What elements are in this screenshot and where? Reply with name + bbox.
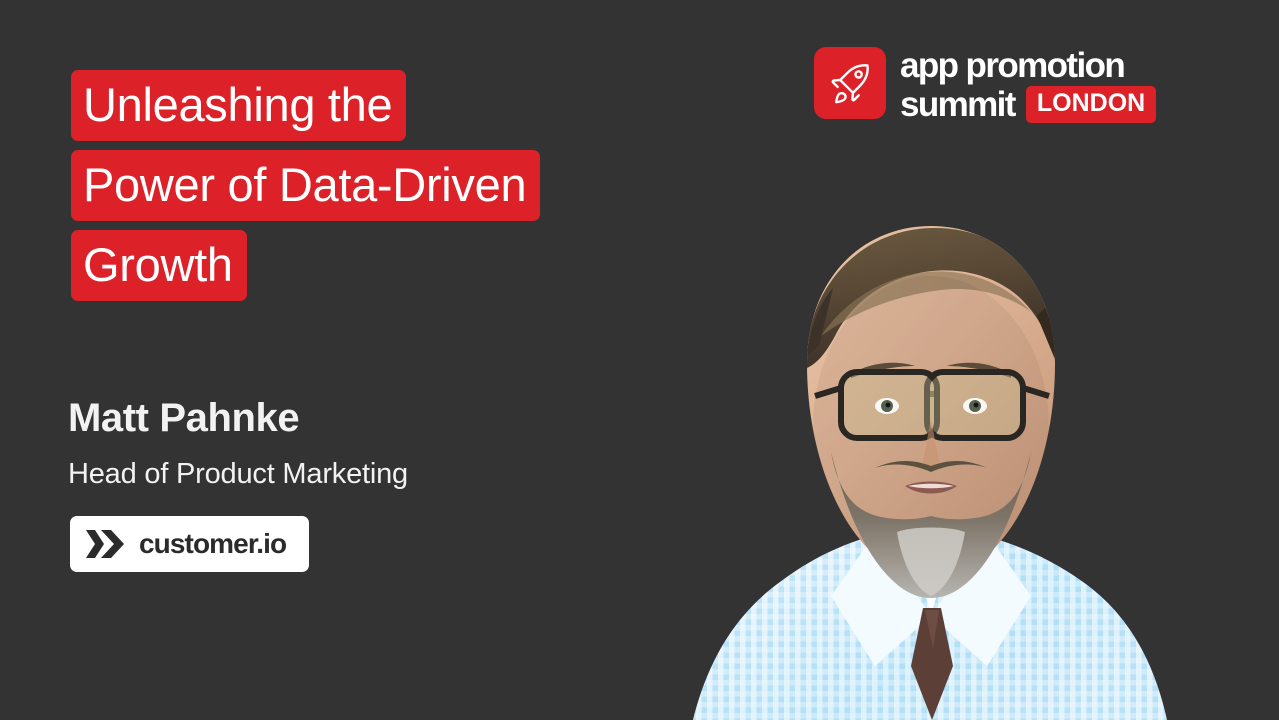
- event-city-badge: LONDON: [1026, 86, 1156, 123]
- event-logo-wordmark: app promotion summit LONDON: [900, 47, 1156, 123]
- event-logo-line-1: app promotion: [900, 48, 1156, 84]
- speaker-role: Head of Product Marketing: [68, 460, 408, 489]
- title-line-3: Growth: [71, 230, 247, 301]
- title-line-2: Power of Data-Driven: [71, 150, 540, 221]
- double-chevron-icon: [86, 530, 126, 558]
- customerio-logo: customer.io: [70, 516, 309, 572]
- event-logo-line-2-row: summit LONDON: [900, 86, 1156, 123]
- speaker-portrait: [575, 196, 1279, 720]
- event-logo-line-2: summit: [900, 87, 1015, 123]
- title-line-1: Unleashing the: [71, 70, 406, 141]
- rocket-badge: [814, 47, 886, 119]
- presentation-title: Unleashing the Power of Data-Driven Grow…: [71, 70, 540, 301]
- rocket-icon: [826, 59, 874, 107]
- app-promotion-summit-logo: app promotion summit LONDON: [814, 47, 1156, 123]
- speaker-name: Matt Pahnke: [68, 398, 299, 438]
- customerio-wordmark: customer.io: [139, 530, 286, 558]
